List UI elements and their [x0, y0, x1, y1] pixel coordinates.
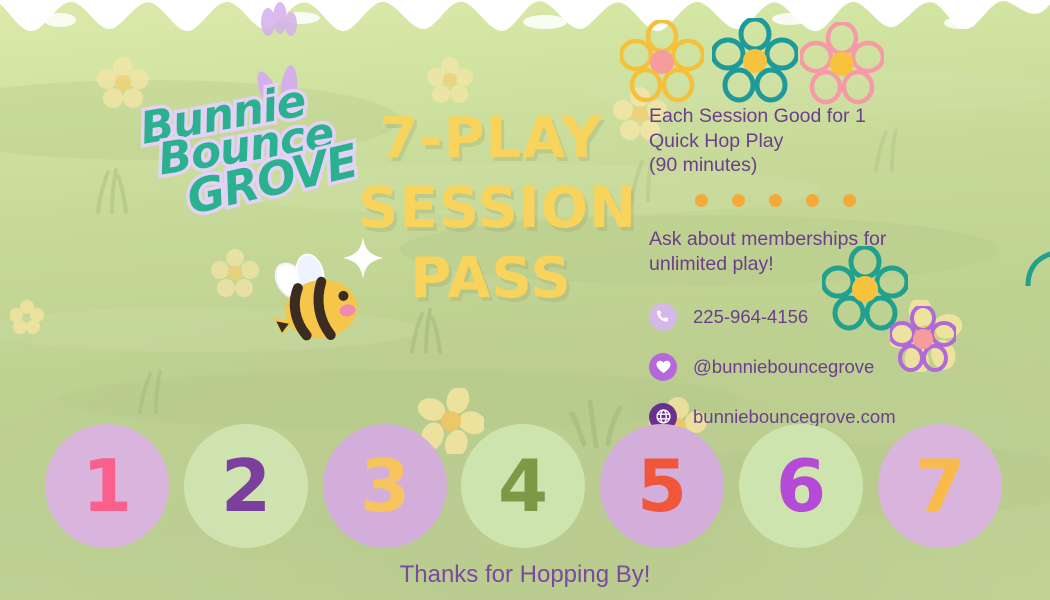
phone-icon [649, 303, 677, 331]
title-line-3: PASS [358, 244, 624, 314]
heart-icon [649, 353, 677, 381]
bee-illustration [258, 252, 370, 352]
punch-circle-7[interactable]: 7 [878, 424, 1002, 548]
flower-soft-yellow [10, 300, 44, 334]
flower-soft-yellow [210, 248, 260, 298]
flower-yellow-outline [620, 20, 704, 104]
punch-number-7: 7 [915, 450, 965, 522]
membership-note: Ask about memberships for unlimited play… [649, 227, 1031, 277]
social-handle: @bunniebouncegrove [693, 356, 874, 378]
punch-number-5: 5 [637, 450, 687, 522]
membership-line-1: Ask about memberships for [649, 227, 1031, 252]
punch-card: Bunnie Bounce GROVE 7-PLAY SESSION PASS [0, 0, 1050, 600]
grass-tuft-icon [86, 160, 146, 220]
punch-circle-6[interactable]: 6 [739, 424, 863, 548]
contact-list: 225-964-4156 @bunniebouncegrove [649, 299, 1031, 435]
session-note-line-3: (90 minutes) [649, 153, 1031, 178]
session-dot [732, 194, 745, 207]
brand-logo: Bunnie Bounce GROVE [131, 76, 345, 224]
session-dot [769, 194, 782, 207]
flower-teal-outline [712, 18, 798, 104]
punch-circle-1[interactable]: 1 [45, 424, 169, 548]
session-note-line-1: Each Session Good for 1 [649, 104, 1031, 129]
punch-number-4: 4 [498, 450, 548, 522]
session-note: Each Session Good for 1 Quick Hop Play (… [649, 104, 1031, 178]
flower-pink-outline [800, 22, 884, 106]
punch-number-6: 6 [776, 450, 826, 522]
session-note-line-2: Quick Hop Play [649, 129, 1031, 154]
punch-circle-row: 1 2 3 4 5 6 7 [0, 424, 1050, 548]
punch-circle-5[interactable]: 5 [600, 424, 724, 548]
punch-circle-2[interactable]: 2 [184, 424, 308, 548]
punch-number-2: 2 [221, 450, 271, 522]
info-column: Each Session Good for 1 Quick Hop Play (… [649, 104, 1031, 449]
session-dot [806, 194, 819, 207]
phone-number: 225-964-4156 [693, 306, 808, 328]
punch-number-1: 1 [82, 450, 132, 522]
title-line-2: SESSION [358, 174, 624, 244]
flower-soft-purple [258, 0, 298, 36]
title-line-1: 7-PLAY [358, 104, 624, 174]
session-dots [695, 194, 1031, 207]
grass-tuft-icon [126, 360, 186, 420]
pass-title: 7-PLAY SESSION PASS [358, 104, 624, 314]
footer-text: Thanks for Hopping By! [0, 561, 1050, 589]
punch-number-3: 3 [360, 450, 410, 522]
flower-soft-yellow [426, 56, 474, 104]
contact-row-social[interactable]: @bunniebouncegrove [649, 349, 1031, 385]
session-dot [843, 194, 856, 207]
session-dot [695, 194, 708, 207]
membership-line-2: unlimited play! [649, 252, 1031, 277]
punch-circle-4[interactable]: 4 [461, 424, 585, 548]
contact-row-phone[interactable]: 225-964-4156 [649, 299, 1031, 335]
torn-paper-top-edge [0, 0, 1050, 44]
punch-circle-3[interactable]: 3 [323, 424, 447, 548]
